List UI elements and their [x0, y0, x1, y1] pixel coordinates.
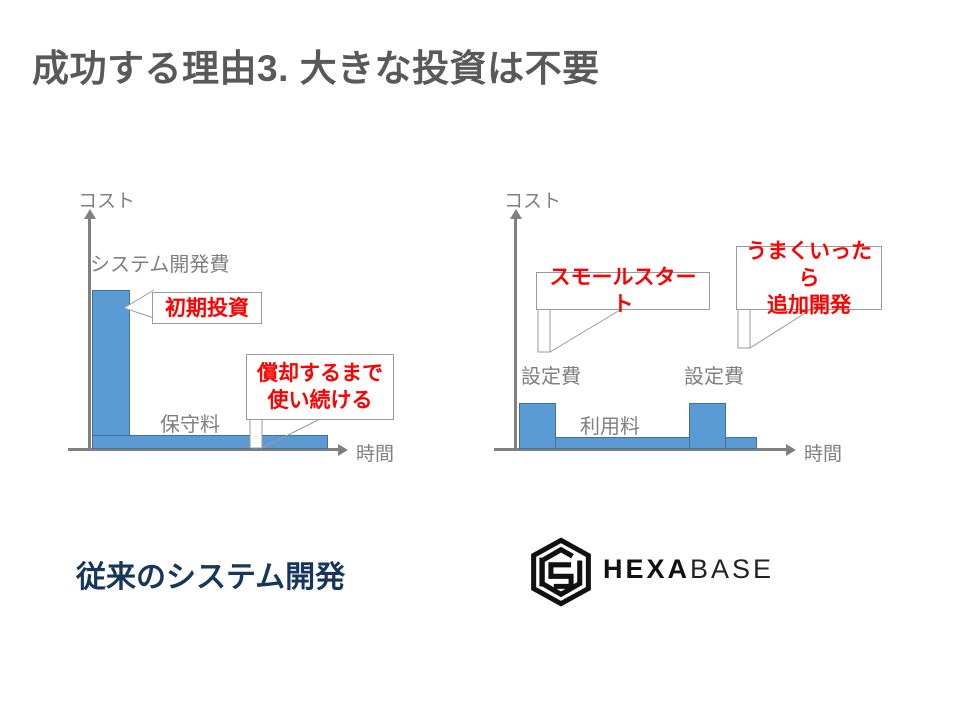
x-axis-label: 時間 — [356, 439, 394, 466]
label-system-development-cost: システム開発費 — [90, 248, 229, 277]
callout-initial-investment-tail — [122, 288, 156, 324]
callout-initial-investment: 初期投資 — [152, 292, 262, 324]
label-usage-fee: 利用料 — [580, 410, 640, 439]
x-axis-label: 時間 — [804, 439, 842, 466]
callout-amortize: 償却するまで 使い続ける — [246, 354, 394, 420]
x-axis-arrow-icon — [786, 444, 796, 456]
page-title: 成功する理由3. 大きな投資は不要 — [32, 38, 600, 92]
bar-setup-fee-1 — [519, 403, 556, 449]
callout-additional-development: うまくいったら 追加開発 — [736, 246, 882, 310]
y-axis-label: コスト — [78, 186, 135, 213]
label-setup-fee-2: 設定費 — [684, 360, 744, 389]
chart-legacy-development: コスト 時間 システム開発費 保守料 初期投資 償却するまで 使い続ける — [60, 180, 440, 480]
slide-canvas: 成功する理由3. 大きな投資は不要 コスト 時間 システム開発費 保守料 初期投… — [0, 0, 960, 720]
logo-text-base: BASE — [690, 554, 774, 584]
chart-hexabase-development: コスト 時間 設定費 設定費 利用料 スモールスタート うまくいったら 追加開発 — [490, 180, 910, 480]
logo-text-hexa: HEXA — [603, 554, 690, 584]
bar-setup-fee-2 — [689, 403, 726, 449]
hexabase-logo: HEXABASE — [525, 536, 775, 608]
callout-amortize-tail — [248, 418, 358, 452]
label-setup-fee-1: 設定費 — [521, 360, 581, 389]
y-axis-line — [514, 218, 517, 450]
callout-small-start: スモールスタート — [536, 272, 710, 310]
label-maintenance-fee: 保守料 — [160, 408, 220, 437]
hexabase-logo-mark-icon — [525, 536, 597, 608]
y-axis-label: コスト — [504, 186, 561, 213]
caption-legacy-development: 従来のシステム開発 — [76, 552, 345, 596]
hexabase-logo-text: HEXABASE — [603, 554, 774, 585]
